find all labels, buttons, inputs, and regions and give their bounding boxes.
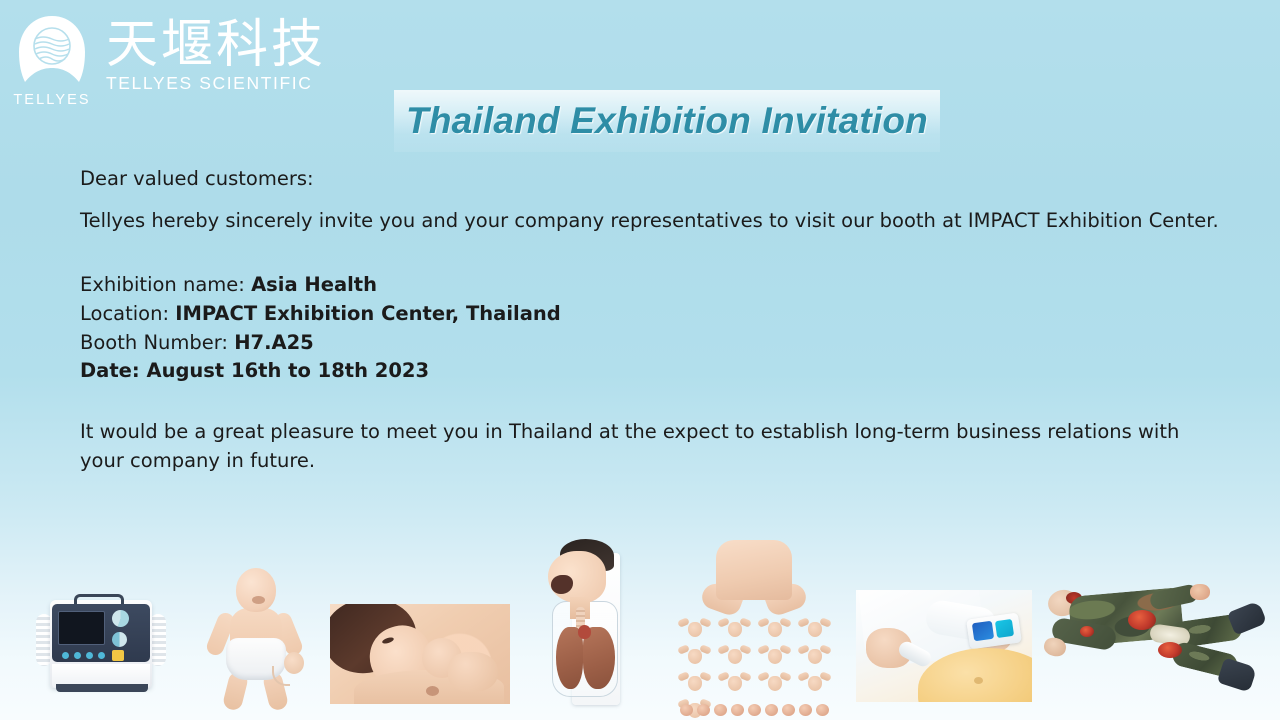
detail-value: IMPACT Exhibition Center, Thailand bbox=[175, 302, 560, 325]
cervix-sample bbox=[799, 704, 812, 716]
cervix-sample bbox=[782, 704, 795, 716]
invitation-slide: TELLYES 天堰科技 TELLYES SCIENTIFIC Thailand… bbox=[0, 0, 1280, 720]
product-infant-cpr-manikin bbox=[200, 568, 310, 708]
monitor-charge-button bbox=[112, 650, 124, 661]
device-screen-blue bbox=[972, 621, 994, 642]
trauma-boot-upper bbox=[1227, 601, 1268, 636]
letter-intro: Tellyes hereby sincerely invite you and … bbox=[80, 210, 1230, 232]
trauma-hand-far bbox=[1190, 584, 1210, 600]
letter-body: Dear valued customers: Tellyes hereby si… bbox=[80, 168, 1230, 476]
product-obstetric-ultrasound-simulation-photo bbox=[856, 590, 1032, 702]
monitor-cable-right bbox=[150, 614, 166, 666]
logo-mark: TELLYES bbox=[12, 14, 92, 118]
cervix-sample bbox=[714, 704, 727, 716]
trainer-heart bbox=[578, 625, 591, 639]
letter-greeting: Dear valued customers: bbox=[80, 168, 1230, 189]
exhibition-details: Exhibition name: Asia Health Location: I… bbox=[80, 271, 1230, 386]
cervix-sample bbox=[697, 704, 710, 716]
uterus-model bbox=[678, 672, 714, 694]
title-banner: Thailand Exhibition Invitation bbox=[394, 90, 940, 152]
uterus-model bbox=[718, 618, 754, 640]
monitor-select-dial bbox=[112, 632, 127, 647]
brand-name-block: 天堰科技 TELLYES SCIENTIFIC bbox=[106, 14, 326, 92]
detail-line-exhibition-name: Exhibition name: Asia Health bbox=[80, 271, 1230, 300]
uterus-model bbox=[718, 645, 754, 667]
product-gynecological-uterus-model-set bbox=[672, 540, 840, 718]
uterus-model bbox=[758, 645, 794, 667]
detail-line-date: Date: August 16th to 18th 2023 bbox=[80, 357, 1230, 386]
detail-label: Booth Number: bbox=[80, 331, 234, 354]
trauma-wound-leg bbox=[1158, 642, 1182, 658]
company-name-english: TELLYES SCIENTIFIC bbox=[106, 75, 326, 93]
cervix-sample bbox=[680, 704, 693, 716]
brand-logo-block: TELLYES 天堰科技 TELLYES SCIENTIFIC bbox=[12, 14, 326, 118]
detail-value: H7.A25 bbox=[234, 331, 314, 354]
uterus-model bbox=[678, 645, 714, 667]
detail-value: August 16th to 18th 2023 bbox=[146, 359, 429, 382]
device-screen-cyan bbox=[995, 619, 1014, 638]
detail-label: Date: bbox=[80, 359, 146, 382]
product-breastfeeding-newborn-care-photo bbox=[330, 604, 510, 704]
monitor-base bbox=[56, 684, 148, 692]
cervix-sample bbox=[765, 704, 778, 716]
uterus-model bbox=[798, 645, 834, 667]
infant-pump-bulb bbox=[284, 652, 304, 674]
detail-value: Asia Health bbox=[251, 273, 377, 296]
product-image-strip bbox=[0, 510, 1280, 720]
trauma-wound-arm bbox=[1080, 626, 1094, 637]
gyn-pelvic-torso bbox=[716, 540, 792, 600]
detail-line-booth-number: Booth Number: H7.A25 bbox=[80, 329, 1230, 358]
uterus-model bbox=[758, 672, 794, 694]
uterus-model bbox=[758, 618, 794, 640]
letter-closing: It would be a great pleasure to meet you… bbox=[80, 418, 1185, 476]
monitor-energy-dial bbox=[112, 610, 129, 627]
cervix-sample bbox=[748, 704, 761, 716]
logo-wordmark: TELLYES bbox=[13, 93, 90, 108]
trauma-wound-abdomen bbox=[1128, 610, 1156, 630]
monitor-indicator-leds bbox=[62, 652, 105, 659]
monitor-screen bbox=[58, 611, 105, 645]
uterus-model bbox=[798, 672, 834, 694]
cervix-sample bbox=[816, 704, 829, 716]
uterus-model bbox=[678, 618, 714, 640]
infant-mouth bbox=[252, 596, 265, 604]
cervix-sample bbox=[731, 704, 744, 716]
photo-supporting-hand bbox=[448, 652, 498, 692]
product-patient-monitor-defibrillator bbox=[36, 592, 166, 692]
trauma-boot-lower bbox=[1217, 657, 1257, 692]
photo-abdomen-navel bbox=[974, 677, 983, 684]
product-airway-intubation-lung-trainer bbox=[526, 539, 636, 714]
photo-breast-detail bbox=[426, 686, 439, 696]
uterus-model bbox=[798, 618, 834, 640]
detail-line-location: Location: IMPACT Exhibition Center, Thai… bbox=[80, 300, 1230, 329]
tellyes-dome-wave-logo-icon bbox=[13, 14, 91, 92]
page-title: Thailand Exhibition Invitation bbox=[406, 100, 928, 142]
product-combat-trauma-casualty-manikin bbox=[1022, 570, 1270, 710]
infant-head bbox=[236, 568, 276, 612]
cervix-dilation-sample-row bbox=[680, 704, 829, 716]
detail-label: Location: bbox=[80, 302, 175, 325]
company-name-chinese: 天堰科技 bbox=[106, 18, 326, 73]
uterus-model bbox=[718, 672, 754, 694]
detail-label: Exhibition name: bbox=[80, 273, 251, 296]
